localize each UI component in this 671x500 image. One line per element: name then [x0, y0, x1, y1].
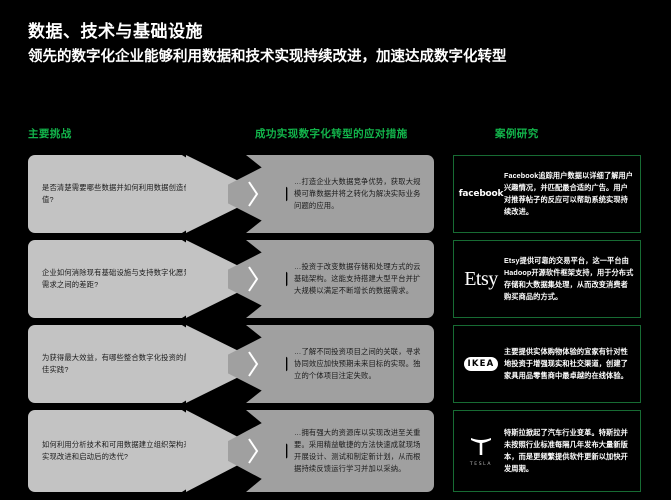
ikea-logo: IKEA: [458, 357, 504, 371]
challenge-text: 企业如何消除现有基础设施与支持数字化愿景需求之间的差距?: [42, 267, 197, 291]
measure-text: …了解不同投资项目之间的关联，寻求协同效应加快预期未来目标的实现。独立的个体项目…: [294, 346, 424, 381]
tesla-mark-icon: [470, 436, 492, 460]
ikea-logo-text: IKEA: [464, 357, 499, 371]
tesla-logo-text: TESLA: [470, 462, 492, 467]
case-study-cell: TESLA 特斯拉掀起了汽车行业变革。特斯拉并未按照行业标准每隔几年发布大量新版…: [453, 410, 641, 492]
etsy-logo: Etsy: [458, 268, 504, 291]
case-study-text: 主要提供实体购物体验的宜家有针对性地投资于增强现实和社交渠道，创建了家具用品零售…: [504, 346, 634, 382]
measure-text: …投资于改变数据存储和处理方式的云基础架构。这能支持搭建大型平台并扩大规模以满足…: [294, 261, 424, 296]
case-study-cell: Etsy Etsy提供可靠的交易平台，这一平台由Hadoop开源软件框架支持，用…: [453, 240, 641, 318]
case-study-cell: facebook Facebook追踪用户数据以详细了解用户兴趣情况，并匹配最合…: [453, 155, 641, 233]
facebook-logo: facebook: [458, 189, 504, 199]
page-subtitle: 领先的数字化企业能够利用数据和技术实现持续改进，加速达成数字化转型: [28, 47, 648, 69]
challenge-text: 是否清楚需要哪些数据并如何利用数据创造价值?: [42, 182, 197, 206]
measure-text: …打造企业大数据竞争优势，获取大规模可靠数据并将之转化为解决实际业务问题的应用。: [294, 176, 424, 211]
table-row: 企业如何消除现有基础设施与支持数字化愿景需求之间的差距? …投资于改变数据存储和…: [0, 240, 671, 318]
page-title: 数据、技术与基础设施: [28, 20, 648, 45]
facebook-logo-text: facebook: [459, 189, 504, 199]
case-study-text: Facebook追踪用户数据以详细了解用户兴趣情况，并匹配最合适的广告。用户对推…: [504, 170, 634, 218]
measure-text: …拥有强大的资源库以实现改进至关重要。采用精益敏捷的方法快速成就现场开展设计、测…: [294, 427, 424, 474]
challenge-text: 如何利用分析技术和可用数据建立组织架构来实现改进和启动后的迭代?: [42, 439, 197, 463]
table-row: 是否清楚需要哪些数据并如何利用数据创造价值? …打造企业大数据竞争优势，获取大规…: [0, 155, 671, 233]
table-row: 如何利用分析技术和可用数据建立组织架构来实现改进和启动后的迭代? …拥有强大的资…: [0, 410, 671, 492]
case-study-text: Etsy提供可靠的交易平台，这一平台由Hadoop开源软件框架支持，用于分布式存…: [504, 255, 634, 303]
etsy-logo-text: Etsy: [464, 268, 498, 291]
tesla-logo: TESLA: [458, 436, 504, 467]
column-header-case-study: 案例研究: [495, 126, 539, 141]
case-study-cell: IKEA 主要提供实体购物体验的宜家有针对性地投资于增强现实和社交渠道，创建了家…: [453, 325, 641, 403]
column-header-challenge: 主要挑战: [28, 126, 72, 141]
column-header-measure: 成功实现数字化转型的应对措施: [255, 126, 408, 141]
title-block: 数据、技术与基础设施 领先的数字化企业能够利用数据和技术实现持续改进，加速达成数…: [28, 20, 648, 68]
table-row: 为获得最大效益，有哪些整合数字化投资的最佳实践? …了解不同投资项目之间的关联，…: [0, 325, 671, 403]
slide-canvas: 数据、技术与基础设施 领先的数字化企业能够利用数据和技术实现持续改进，加速达成数…: [0, 0, 671, 500]
challenge-text: 为获得最大效益，有哪些整合数字化投资的最佳实践?: [42, 352, 197, 376]
case-study-text: 特斯拉掀起了汽车行业变革。特斯拉并未按照行业标准每隔几年发布大量新版本，而是更频…: [504, 427, 634, 475]
